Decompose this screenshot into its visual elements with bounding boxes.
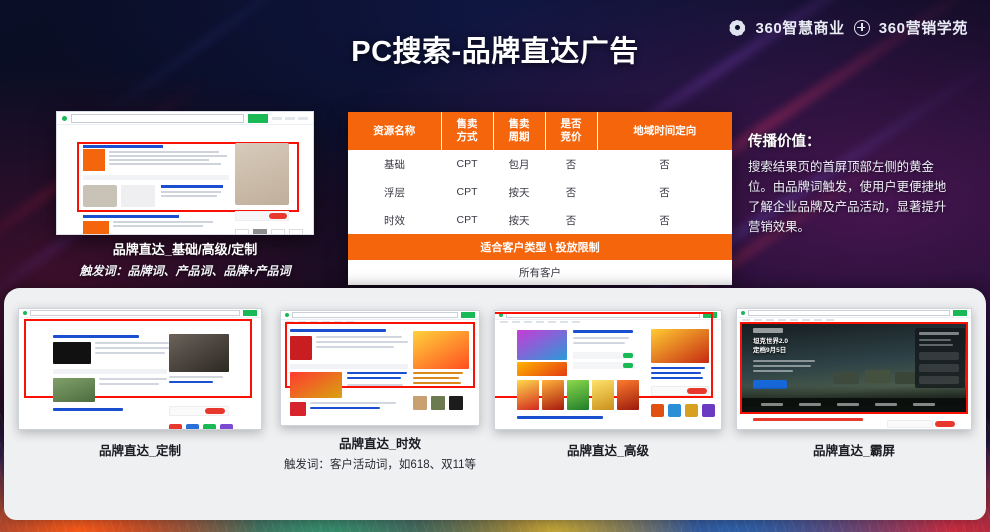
game-thumb <box>542 380 564 410</box>
screenshot-results-body <box>57 125 313 133</box>
result-text-line <box>95 342 169 344</box>
example-caption-custom: 品牌直达_定制 <box>18 440 262 459</box>
search-engine-logo-icon <box>741 311 745 315</box>
screenshot-search-button <box>243 310 257 316</box>
app-icon <box>186 424 199 430</box>
result-text-line <box>99 383 159 385</box>
table-cell: 包月 <box>493 150 545 178</box>
table-cell: 否 <box>597 178 732 206</box>
table-cell: 否 <box>597 150 732 178</box>
sidebar-card <box>887 420 933 428</box>
app-icon <box>203 424 216 430</box>
sidebar-link-line <box>413 382 461 384</box>
table-cell: 时效 <box>348 206 441 234</box>
screenshot-topnav <box>272 117 308 120</box>
result-text-line <box>573 342 625 344</box>
example-caption-advanced: 品牌直达_高级 <box>494 440 722 459</box>
result-text-line <box>113 225 203 227</box>
example-screenshot-advanced <box>494 310 722 430</box>
app-icon <box>702 404 715 417</box>
app-icon <box>685 404 698 417</box>
sidebar-link-line <box>651 367 705 369</box>
brand-tile <box>290 336 312 360</box>
example-caption-timeliness: 品牌直达_时效 <box>280 433 480 452</box>
app-icon <box>169 424 182 430</box>
result-text-line <box>113 221 213 223</box>
screenshot-search-bar <box>19 309 261 318</box>
result-title-line <box>53 408 123 411</box>
result-tab-strip <box>290 364 408 369</box>
result-text-line <box>109 159 209 161</box>
examples-panel: 坦克世界2.0 定档9月5日 <box>4 288 986 520</box>
example-sub-caption-timeliness: 触发词：客户活动词，如618、双11等 <box>250 456 510 472</box>
sidebar-cta-button <box>205 408 225 414</box>
screenshot-results-body <box>281 326 479 332</box>
table-cell: 浮层 <box>348 178 441 206</box>
value-title: 传播价值： <box>748 130 956 151</box>
table-header-row: 资源名称 售卖 方式 售卖 周期 是否 竞价 地域时间定向 <box>348 112 732 150</box>
table-cell: CPT <box>441 150 493 178</box>
table-header-cell: 资源名称 <box>348 112 441 150</box>
result-text-line <box>95 347 175 349</box>
ad-creative-image <box>413 331 469 369</box>
flower-logo-icon <box>728 18 747 37</box>
example-screenshot-timeliness <box>280 310 480 426</box>
product-thumb <box>121 185 155 207</box>
result-text-line <box>109 151 219 153</box>
sidebar-cta-button <box>269 213 287 219</box>
sidebar-text-line <box>169 376 223 378</box>
table-cell: CPT <box>441 206 493 234</box>
brand-icon-cell <box>235 229 249 235</box>
brand-icon-cell <box>289 229 303 235</box>
download-button <box>623 363 633 368</box>
table-footer-header: 适合客户类型 \ 投放限制 <box>348 234 732 260</box>
app-icon <box>668 404 681 417</box>
result-title-line <box>161 185 223 188</box>
table-header-cell: 是否 竞价 <box>545 112 597 150</box>
screenshot-search-input <box>292 312 458 318</box>
result-text-line <box>316 341 408 343</box>
table-row: 时效 CPT 按天 否 否 <box>348 206 732 234</box>
result-title-line <box>517 416 603 419</box>
result-text-line <box>347 384 403 386</box>
result-text-line <box>161 195 217 197</box>
sidebar-thumb <box>449 396 463 410</box>
product-thumb <box>83 185 117 207</box>
table-cell: 按天 <box>493 178 545 206</box>
promo-banner <box>290 372 342 398</box>
search-engine-logo-icon <box>285 313 289 317</box>
sidebar-thumb <box>431 396 445 410</box>
brand-icon-cell <box>271 229 285 235</box>
hero-caption: 品牌直达_基础/高级/定制 <box>56 239 314 258</box>
download-button <box>623 353 633 358</box>
result-text-line <box>573 337 629 339</box>
search-engine-logo-icon <box>62 116 67 121</box>
ad-creative-image <box>169 334 229 372</box>
ad-creative-image <box>53 342 91 364</box>
plus-circle-icon <box>854 20 870 36</box>
brand-tile <box>83 221 109 235</box>
table-row: 基础 CPT 包月 否 否 <box>348 150 732 178</box>
screenshot-results-body <box>495 326 721 332</box>
screenshot-search-bar <box>281 311 479 320</box>
brand-secondary-label: 360营销学苑 <box>879 17 968 38</box>
result-text-line <box>316 346 394 348</box>
screenshot-search-button <box>461 312 475 318</box>
example-screenshot-fullscreen: 坦克世界2.0 定档9月5日 <box>736 308 972 430</box>
sidebar-link-line <box>651 372 701 374</box>
example-caption-fullscreen: 品牌直达_霸屏 <box>736 440 972 459</box>
result-title-line <box>83 145 163 148</box>
value-proposition-block: 传播价值： 搜索结果页的首屏顶部左侧的黄金位。由品牌词触发，使用户更便捷地了解企… <box>748 130 956 237</box>
sidebar-cta-button <box>687 388 707 394</box>
table-cell: CPT <box>441 178 493 206</box>
sidebar-cta-button <box>935 421 955 427</box>
result-tab-strip <box>53 369 167 374</box>
result-link-line <box>347 372 407 374</box>
result-title-line <box>290 329 386 332</box>
result-title-line <box>573 330 633 333</box>
result-text-line <box>316 336 402 338</box>
result-text-line <box>95 352 165 354</box>
brand-tile <box>83 149 105 171</box>
table-cell: 按天 <box>493 206 545 234</box>
sidebar-link-line <box>413 377 459 379</box>
table-footer-value: 所有客户 <box>348 260 732 285</box>
result-text-line <box>109 155 227 157</box>
result-text-line <box>161 191 221 193</box>
brand-logo-bar: 360智慧商业 360营销学苑 <box>728 17 968 38</box>
game-thumb <box>567 380 589 410</box>
screenshot-search-button <box>953 310 967 316</box>
screenshot-search-input <box>748 310 950 316</box>
search-engine-logo-icon <box>23 311 27 315</box>
table-header-cell: 地域时间定向 <box>597 112 732 150</box>
result-title-line <box>753 418 863 421</box>
ad-creative-image <box>235 143 289 205</box>
sidebar-link-line <box>169 381 213 383</box>
sidebar-thumb <box>413 396 427 410</box>
result-link-line <box>347 377 401 379</box>
game-thumb <box>592 380 614 410</box>
screenshot-results-body <box>19 324 261 330</box>
result-tab-strip <box>83 175 229 180</box>
sidebar-ad-image <box>651 329 709 363</box>
result-text-line <box>310 402 396 404</box>
table-header-cell: 售卖 周期 <box>493 112 545 150</box>
table-cell: 基础 <box>348 150 441 178</box>
highlight-box <box>740 322 968 414</box>
screenshot-search-bar <box>57 112 313 125</box>
table-row: 浮层 CPT 按天 否 否 <box>348 178 732 206</box>
hero-search-screenshot <box>56 111 314 235</box>
value-body: 搜索结果页的首屏顶部左侧的黄金位。由品牌词触发，使用户更便捷地了解企业品牌及产品… <box>748 157 956 237</box>
sidebar-link-line <box>413 372 463 374</box>
result-title-line <box>53 335 139 338</box>
sidebar-link-line <box>651 377 703 379</box>
brand-primary-label: 360智慧商业 <box>756 17 845 38</box>
ad-creative-image <box>517 362 567 376</box>
ad-creative-image <box>517 330 567 360</box>
game-thumb <box>617 380 639 410</box>
table-cell: 否 <box>545 178 597 206</box>
hero-sub-caption: 触发词：品牌词、产品词、品牌+产品词 <box>20 262 350 279</box>
example-screenshot-custom <box>18 308 262 430</box>
screenshot-search-button <box>248 114 268 123</box>
ad-creative-image <box>53 378 95 402</box>
resource-table: 资源名称 售卖 方式 售卖 周期 是否 竞价 地域时间定向 基础 CPT 包月 … <box>348 112 732 285</box>
result-text-line <box>109 163 221 165</box>
result-link-line <box>310 407 380 409</box>
app-icon <box>220 424 233 430</box>
app-icon <box>651 404 664 417</box>
table-cell: 否 <box>597 206 732 234</box>
table-header-cell: 售卖 方式 <box>441 112 493 150</box>
screenshot-search-bar <box>737 309 971 318</box>
screenshot-search-input <box>30 310 240 316</box>
game-thumb <box>517 380 539 410</box>
result-title-line <box>83 215 179 218</box>
brand-tile <box>290 402 306 416</box>
brand-icon-cell <box>253 229 267 235</box>
result-text-line <box>99 378 167 380</box>
table-cell: 否 <box>545 206 597 234</box>
screenshot-search-input <box>71 114 244 123</box>
table-cell: 否 <box>545 150 597 178</box>
